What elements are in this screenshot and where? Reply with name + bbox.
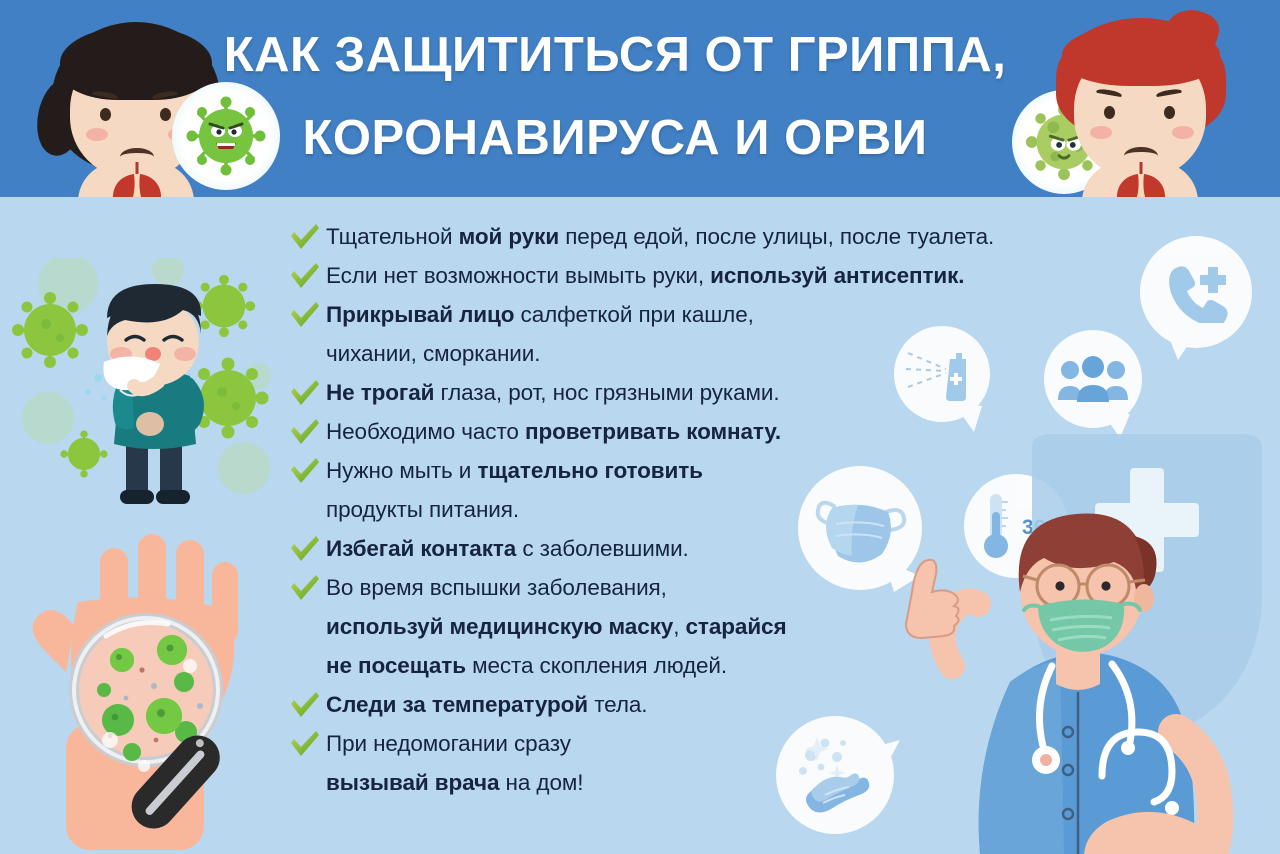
emphasis-text: не посещать (326, 653, 466, 678)
check-icon (288, 456, 322, 486)
list-item-text: Избегай контакта с заболевшими. (326, 530, 689, 568)
check-icon (288, 378, 322, 408)
plain-text: места скопления людей. (466, 653, 727, 678)
plain-text: При недомогании сразу (326, 731, 571, 756)
bubble-tail (952, 402, 988, 434)
plain-text: перед едой, после улицы, после туалета. (559, 224, 994, 249)
cheek-left (86, 128, 108, 141)
lungs-icon (104, 160, 170, 197)
plain-text: на дом! (499, 770, 583, 795)
check-icon (288, 573, 322, 603)
cheek-left (1090, 126, 1112, 139)
emphasis-text: используй медицинскую маску (326, 614, 673, 639)
doctor-illustration (860, 470, 1280, 854)
antiseptic-spray-bubble (894, 326, 990, 422)
check-icon (288, 417, 322, 447)
group-of-people-bubble (1044, 330, 1142, 428)
list-item-text: используй медицинскую маску, старайся (326, 608, 787, 646)
list-item-text: Следи за температурой тела. (326, 686, 647, 724)
plain-text: с заболевшими. (516, 536, 689, 561)
check-icon (288, 534, 322, 564)
plain-text: Тщательной (326, 224, 459, 249)
list-item: Не трогай глаза, рот, нос грязными рукам… (288, 374, 928, 412)
lungs-icon (1108, 160, 1174, 197)
check-icon (288, 729, 322, 759)
list-item: Если нет возможности вымыть руки, исполь… (288, 257, 928, 295)
list-item-text: Тщательной мой руки перед едой, после ул… (326, 218, 994, 256)
check-icon (288, 690, 322, 720)
plain-text: Нужно мыть и (326, 458, 477, 483)
list-item: чихании, сморкании. (288, 335, 928, 373)
check-icon (288, 261, 322, 291)
check-icon (288, 222, 322, 252)
list-item-text: чихании, сморкании. (326, 335, 540, 373)
list-item-text: продукты питания. (326, 491, 519, 529)
emphasis-text: Не трогай (326, 380, 434, 405)
plain-text: глаза, рот, нос грязными руками. (434, 380, 779, 405)
check-icon (288, 300, 322, 330)
poster-header: КАК ЗАЩИТИТЬСЯ ОТ ГРИППА, КОРОНАВИРУСА И… (0, 0, 1280, 197)
list-item-text: Нужно мыть и тщательно готовить (326, 452, 703, 490)
hand-with-magnifier-illustration (14, 530, 314, 854)
emphasis-text: Избегай контакта (326, 536, 516, 561)
list-item-text: Во время вспышки заболевания, (326, 569, 667, 607)
page-title: КАК ЗАЩИТИТЬСЯ ОТ ГРИППА, КОРОНАВИРУСА И… (220, 14, 1010, 180)
plain-text: тела. (588, 692, 647, 717)
sneezing-boy-illustration (8, 258, 294, 520)
list-item: Прикрывай лицо салфеткой при кашле, (288, 296, 928, 334)
emphasis-text: тщательно готовить (477, 458, 702, 483)
hair-fringe (60, 26, 212, 100)
eye-left (1104, 106, 1115, 119)
list-item-text: Если нет возможности вымыть руки, исполь… (326, 257, 964, 295)
list-item-text: не посещать места скопления людей. (326, 647, 727, 685)
list-item: не посещать места скопления людей. (288, 647, 928, 685)
emphasis-text: Следи за температурой (326, 692, 588, 717)
phone-medical-bubble (1140, 236, 1252, 348)
list-item-text: Прикрывай лицо салфеткой при кашле, (326, 296, 754, 334)
emphasis-text: Прикрывай лицо (326, 302, 514, 327)
bubble-tail (1164, 328, 1204, 362)
list-item-text: При недомогании сразу (326, 725, 571, 763)
eye-right (160, 108, 171, 121)
list-item: используй медицинскую маску, старайся (288, 608, 928, 646)
emphasis-text: старайся (686, 614, 787, 639)
list-item: Необходимо часто проветривать комнату. (288, 413, 928, 451)
cheek-right (1172, 126, 1194, 139)
emphasis-text: мой руки (459, 224, 559, 249)
list-item: Тщательной мой руки перед едой, после ул… (288, 218, 928, 256)
plain-text: чихании, сморкании. (326, 341, 540, 366)
plain-text: Необходимо часто (326, 419, 525, 444)
eye-right (1164, 106, 1175, 119)
plain-text: Если нет возможности вымыть руки, (326, 263, 710, 288)
plain-text: Во время вспышки заболевания, (326, 575, 667, 600)
eye-left (100, 108, 111, 121)
emphasis-text: проветривать комнату. (525, 419, 781, 444)
list-item-text: вызывай врача на дом! (326, 764, 583, 802)
sick-boy-illustration (1016, 0, 1266, 197)
plain-text: салфеткой при кашле, (514, 302, 753, 327)
plain-text: , (673, 614, 685, 639)
list-item-text: Не трогай глаза, рот, нос грязными рукам… (326, 374, 780, 412)
list-item-text: Необходимо часто проветривать комнату. (326, 413, 781, 451)
poster-root: КАК ЗАЩИТИТЬСЯ ОТ ГРИППА, КОРОНАВИРУСА И… (0, 0, 1280, 854)
emphasis-text: используй антисептик. (710, 263, 964, 288)
plain-text: продукты питания. (326, 497, 519, 522)
emphasis-text: вызывай врача (326, 770, 499, 795)
